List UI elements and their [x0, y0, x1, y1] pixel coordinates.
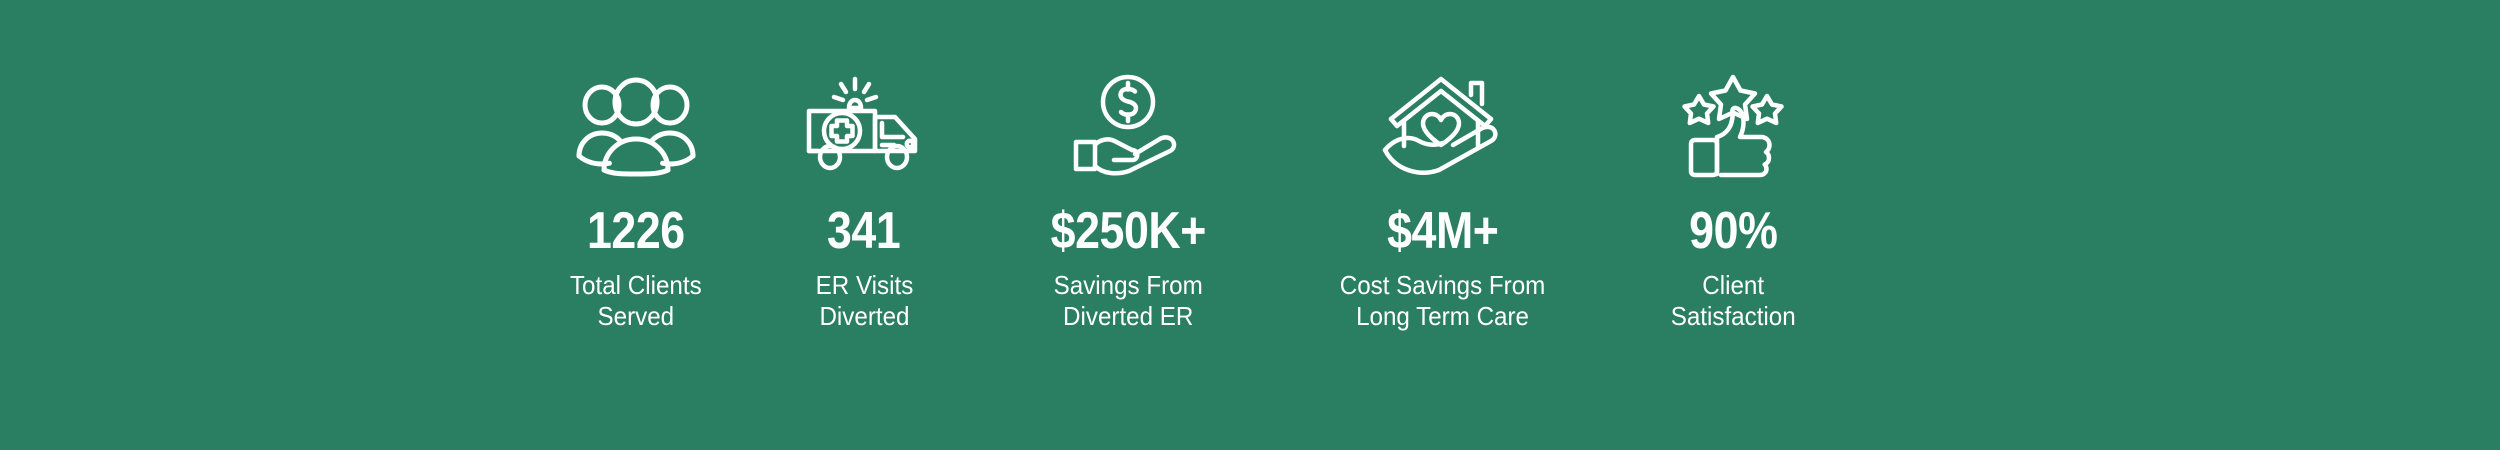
stat-value: 341: [827, 204, 900, 258]
stat-item-client-satisfaction: 90% Client Satisfaction: [1608, 50, 1858, 332]
stats-row: 1226 Total Clients Served: [522, 50, 1858, 332]
stat-value: 90%: [1689, 204, 1777, 258]
stat-value: $250K+: [1050, 204, 1205, 258]
stat-value: $4M+: [1387, 204, 1498, 258]
stat-label: Savings From Diverted ER: [1053, 270, 1202, 332]
stat-label: Cost Savings From Long Term Care: [1340, 270, 1546, 332]
hand-holding-dollar-coin-icon: [994, 50, 1262, 200]
stat-label: Client Satisfaction: [1671, 270, 1796, 332]
stat-item-er-visits-diverted: 341 ER Visits Diverted: [750, 50, 978, 332]
stat-item-total-clients-served: 1226 Total Clients Served: [522, 50, 750, 332]
stat-value: 1226: [587, 204, 685, 258]
stat-item-savings-from-diverted-er: $250K+ Savings From Diverted ER: [978, 50, 1278, 332]
impact-statistics-banner: 1226 Total Clients Served: [0, 0, 2500, 450]
ambulance-icon: [766, 50, 962, 200]
hand-holding-house-with-heart-icon: [1294, 50, 1592, 200]
thumbs-up-with-stars-icon: [1624, 50, 1842, 200]
stat-label: ER Visits Diverted: [815, 270, 913, 332]
stat-label: Total Clients Served: [570, 270, 702, 332]
stat-item-cost-savings-long-term-care: $4M+ Cost Savings From Long Term Care: [1278, 50, 1608, 332]
group-of-people-icon: [538, 50, 734, 200]
